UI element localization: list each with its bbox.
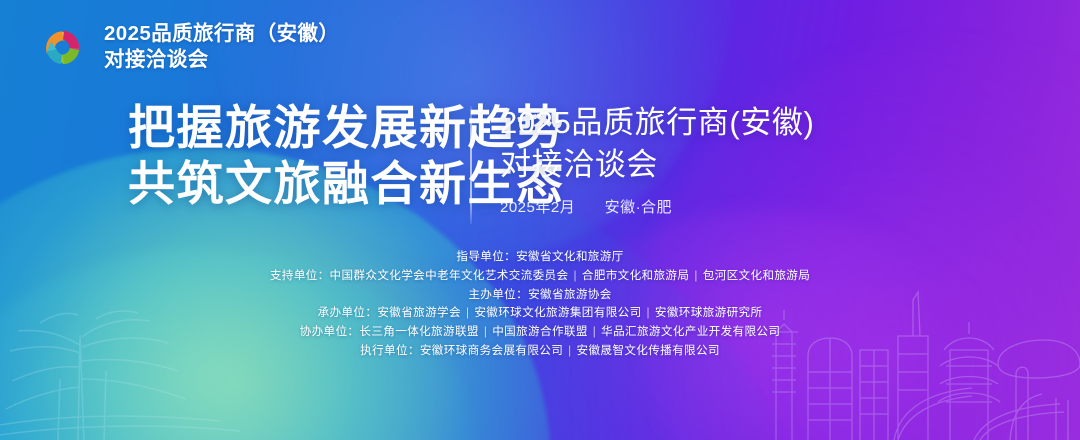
hero-subtitle-block: 2025品质旅行商(安徽) 对接洽谈会 2025年2月 安徽·合肥	[472, 100, 814, 217]
credit-line: 指导单位：安徽省文化和旅游厅	[0, 248, 1080, 267]
credit-line: 执行单位：安徽环球商务会展有限公司|安徽晟智文化传播有限公司	[0, 342, 1080, 361]
credit-org: 安徽环球旅游研究所	[655, 306, 763, 319]
credit-separator: |	[479, 325, 492, 338]
subtitle-line-1: 2025品质旅行商(安徽)	[500, 102, 814, 144]
credit-line: 承办单位：安徽省旅游学会|安徽环球文化旅游集团有限公司|安徽环球旅游研究所	[0, 304, 1080, 323]
four-petal-circle-logo-icon	[36, 20, 90, 74]
credit-label: 支持单位：	[270, 269, 330, 282]
credit-label: 主办单位：	[468, 288, 528, 301]
credit-org: 安徽省旅游协会	[528, 288, 612, 301]
credit-line: 支持单位：中国群众文化学会中老年文化艺术交流委员会|合肥市文化和旅游局|包河区文…	[0, 267, 1080, 286]
event-location: 安徽·合肥	[605, 199, 673, 216]
credit-org: 长三角一体化旅游联盟	[359, 325, 478, 338]
credit-separator: |	[563, 344, 576, 357]
event-banner: 2025品质旅行商（安徽） 对接洽谈会 把握旅游发展新趋势 共筑文旅融合新生态 …	[0, 0, 1080, 440]
logo-petal-magenta	[63, 31, 79, 48]
credit-org: 安徽环球商务会展有限公司	[420, 344, 563, 357]
credit-separator: |	[461, 306, 474, 319]
headline-line-2: 共筑文旅融合新生态	[128, 156, 470, 212]
credit-label: 承办单位：	[318, 306, 378, 319]
header-logo-lockup[interactable]: 2025品质旅行商（安徽） 对接洽谈会	[36, 20, 339, 74]
credit-org: 安徽省旅游学会	[377, 306, 461, 319]
credit-line: 主办单位：安徽省旅游协会	[0, 286, 1080, 305]
header-title-line1: 2025品质旅行商（安徽）	[104, 21, 339, 47]
event-meta: 2025年2月 安徽·合肥	[500, 196, 814, 217]
header-title-line2: 对接洽谈会	[104, 47, 339, 73]
event-date: 2025年2月	[500, 199, 575, 216]
headline-line-1: 把握旅游发展新趋势	[128, 100, 470, 156]
logo-petal-teal	[47, 49, 62, 64]
credit-org: 安徽环球文化旅游集团有限公司	[474, 306, 641, 319]
credit-org: 包河区文化和旅游局	[703, 269, 811, 282]
subtitle-line-2: 对接洽谈会	[500, 144, 814, 186]
credit-org: 中国旅游合作联盟	[492, 325, 588, 338]
logo-petal-green	[63, 48, 79, 64]
credit-org: 合肥市文化和旅游局	[582, 269, 690, 282]
credit-separator: |	[568, 269, 581, 282]
hero-section: 把握旅游发展新趋势 共筑文旅融合新生态 2025品质旅行商(安徽) 对接洽谈会 …	[0, 100, 1080, 224]
credit-line: 协办单位：长三角一体化旅游联盟|中国旅游合作联盟|华品汇旅游文化产业开发有限公司	[0, 323, 1080, 342]
credit-org: 安徽省文化和旅游厅	[516, 250, 624, 263]
credit-separator: |	[689, 269, 702, 282]
credit-separator: |	[642, 306, 655, 319]
credit-label: 指导单位：	[456, 250, 516, 263]
credit-org: 华品汇旅游文化产业开发有限公司	[601, 325, 780, 338]
credit-org: 安徽晟智文化传播有限公司	[577, 344, 720, 357]
organizer-credits: 指导单位：安徽省文化和旅游厅支持单位：中国群众文化学会中老年文化艺术交流委员会|…	[0, 248, 1080, 361]
credit-label: 执行单位：	[360, 344, 420, 357]
credit-label: 协办单位：	[300, 325, 360, 338]
credit-separator: |	[588, 325, 601, 338]
header-logo-text: 2025品质旅行商（安徽） 对接洽谈会	[104, 21, 339, 73]
credit-org: 中国群众文化学会中老年文化艺术交流委员会	[330, 269, 569, 282]
hero-headline-block: 把握旅游发展新趋势 共筑文旅融合新生态	[0, 100, 470, 213]
